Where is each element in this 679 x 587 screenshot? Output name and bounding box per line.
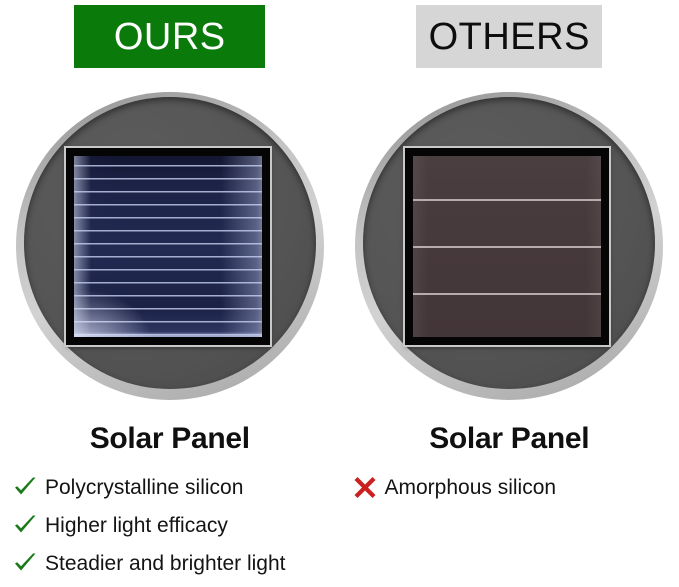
check-icon — [12, 550, 38, 576]
feature-label: Amorphous silicon — [385, 477, 557, 498]
feature-item: Polycrystalline silicon — [12, 472, 340, 502]
column-ours: OURS Solar Panel Polycrystalline silicon… — [0, 0, 340, 587]
check-icon — [12, 474, 38, 500]
feature-label: Higher light efficacy — [45, 515, 228, 536]
badge-others: OTHERS — [416, 5, 602, 68]
column-others: OTHERS Solar Panel Amorphous silicon — [340, 0, 679, 587]
comparison-layout: OURS Solar Panel Polycrystalline silicon… — [0, 0, 679, 587]
feature-item: Steadier and brighter light — [12, 548, 340, 578]
solar-panel-frame-others — [405, 148, 609, 345]
product-housing-others — [355, 92, 663, 400]
feature-list-ours: Polycrystalline silicon Higher light eff… — [0, 472, 340, 578]
solar-panel-frame-ours — [66, 148, 270, 345]
feature-item: Higher light efficacy — [12, 510, 340, 540]
feature-label: Steadier and brighter light — [45, 553, 286, 574]
badge-ours: OURS — [74, 5, 265, 68]
panel-caption-others: Solar Panel — [429, 422, 589, 456]
feature-item: Amorphous silicon — [352, 472, 679, 502]
feature-label: Polycrystalline silicon — [45, 477, 243, 498]
product-housing-ours — [16, 92, 324, 400]
cross-icon — [352, 474, 378, 500]
check-icon — [12, 512, 38, 538]
solar-panel-amorphous — [413, 156, 601, 337]
solar-panel-polycrystalline — [74, 156, 262, 337]
feature-list-others: Amorphous silicon — [340, 472, 679, 502]
panel-caption-ours: Solar Panel — [90, 422, 250, 456]
